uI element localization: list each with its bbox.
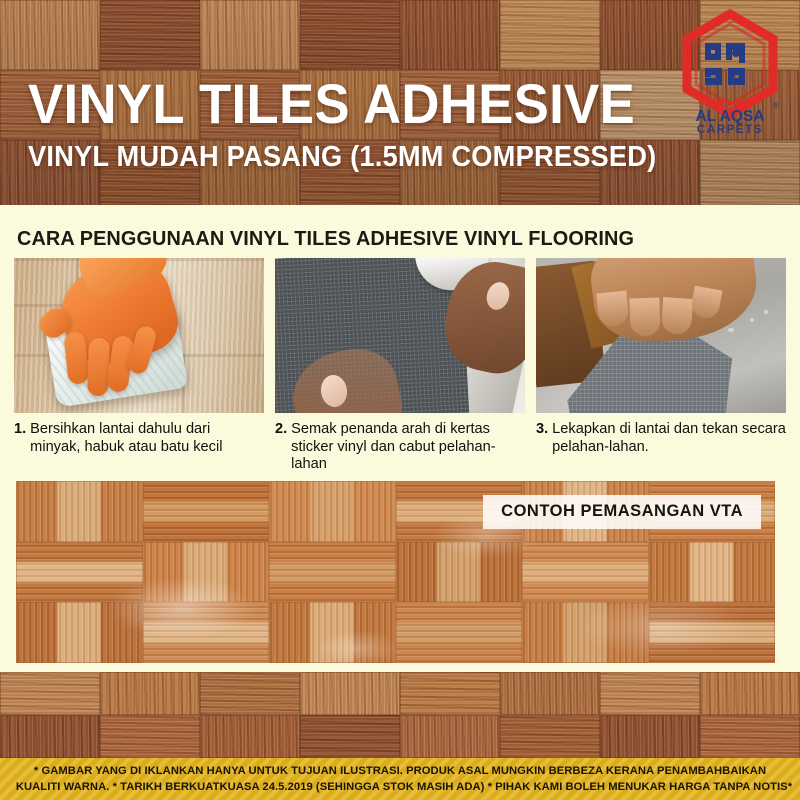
step-3-number: 3. <box>536 421 548 456</box>
al-aqsa-logo: AL AQSA CARPETS ® <box>672 8 788 136</box>
parquet-tile <box>522 542 649 603</box>
parquet-tile <box>143 542 270 603</box>
step-2-text: Semak penanda arah di kertas sticker vin… <box>291 421 525 474</box>
disclaimer-footer: * GAMBAR YANG DI IKLANKAN HANYA UNTUK TU… <box>0 758 800 800</box>
logo-svg: AL AQSA CARPETS ® <box>672 8 788 136</box>
wood-tile <box>0 715 100 758</box>
sample-badge: CONTOH PEMASANGAN VTA <box>483 495 761 529</box>
parquet-tile <box>396 602 523 663</box>
parquet-tile <box>649 542 776 603</box>
aqsa-monogram-icon <box>705 43 745 85</box>
parquet-tile <box>269 542 396 603</box>
poster: VINYL TILES ADHESIVE VINYL MUDAH PASANG … <box>0 0 800 800</box>
sample-badge-label: CONTOH PEMASANGAN VTA <box>501 502 743 520</box>
parquet-tile <box>522 602 649 663</box>
parquet-tile <box>649 602 776 663</box>
wood-tile <box>100 672 200 715</box>
parquet-tile <box>16 602 143 663</box>
step-2-number: 2. <box>275 421 287 474</box>
how-to-heading: CARA PENGGUNAAN VINYL TILES ADHESIVE VIN… <box>17 227 634 251</box>
wood-tile <box>600 672 700 715</box>
step-3-photo <box>536 258 786 413</box>
band-wood-texture <box>0 672 800 758</box>
step-1-text: Bersihkan lantai dahulu dari minyak, hab… <box>30 421 264 456</box>
how-to-section: CARA PENGGUNAAN VINYL TILES ADHESIVE VIN… <box>0 205 800 480</box>
parquet-tile <box>269 481 396 542</box>
bottom-wood-band <box>0 672 800 758</box>
wood-tile <box>700 715 800 758</box>
step-item: 3. Lekapkan di lantai dan tekan secara p… <box>536 258 786 456</box>
registered-trademark-icon: ® <box>773 101 779 110</box>
step-3-text: Lekapkan di lantai dan tekan secara pela… <box>552 421 786 456</box>
wood-tile <box>0 672 100 715</box>
step-1-photo <box>14 258 264 413</box>
page-title: VINYL TILES ADHESIVE <box>28 74 667 134</box>
wood-tile <box>300 672 400 715</box>
wood-tile <box>300 715 400 758</box>
wood-tile <box>400 715 500 758</box>
page-subtitle: VINYL MUDAH PASANG (1.5MM COMPRESSED) <box>28 140 667 174</box>
title-block: VINYL TILES ADHESIVE VINYL MUDAH PASANG … <box>28 74 708 174</box>
wood-tile <box>700 672 800 715</box>
step-1-caption: 1. Bersihkan lantai dahulu dari minyak, … <box>14 421 264 456</box>
wood-tile <box>200 715 300 758</box>
step-1-number: 1. <box>14 421 26 456</box>
wood-tile <box>600 715 700 758</box>
logo-name-line2: CARPETS <box>697 124 763 136</box>
floor-sample-showcase: CONTOH PEMASANGAN VTA <box>16 481 775 663</box>
wood-tile <box>500 715 600 758</box>
wood-tile <box>100 715 200 758</box>
wood-tile <box>200 672 300 715</box>
step-item: 2. Semak penanda arah di kertas sticker … <box>275 258 525 474</box>
parquet-tile <box>16 481 143 542</box>
step-2-caption: 2. Semak penanda arah di kertas sticker … <box>275 421 525 474</box>
hexagon-icon <box>687 14 773 114</box>
parquet-tile <box>143 481 270 542</box>
step-3-caption: 3. Lekapkan di lantai dan tekan secara p… <box>536 421 786 456</box>
wood-tile <box>400 672 500 715</box>
disclaimer-line-1: * GAMBAR YANG DI IKLANKAN HANYA UNTUK TU… <box>16 763 784 779</box>
logo-name-line1: AL AQSA <box>696 108 765 125</box>
disclaimer-line-2: KUALITI WARNA. * TARIKH BERKUATKUASA 24.… <box>16 779 784 795</box>
wood-tile <box>500 672 600 715</box>
header-banner: VINYL TILES ADHESIVE VINYL MUDAH PASANG … <box>0 0 800 205</box>
parquet-tile <box>396 542 523 603</box>
parquet-tile <box>269 602 396 663</box>
steps-row: 1. Bersihkan lantai dahulu dari minyak, … <box>14 258 786 470</box>
step-item: 1. Bersihkan lantai dahulu dari minyak, … <box>14 258 264 456</box>
step-2-photo <box>275 258 525 413</box>
disclaimer-text: * GAMBAR YANG DI IKLANKAN HANYA UNTUK TU… <box>16 763 784 795</box>
parquet-tile <box>16 542 143 603</box>
parquet-tile <box>143 602 270 663</box>
